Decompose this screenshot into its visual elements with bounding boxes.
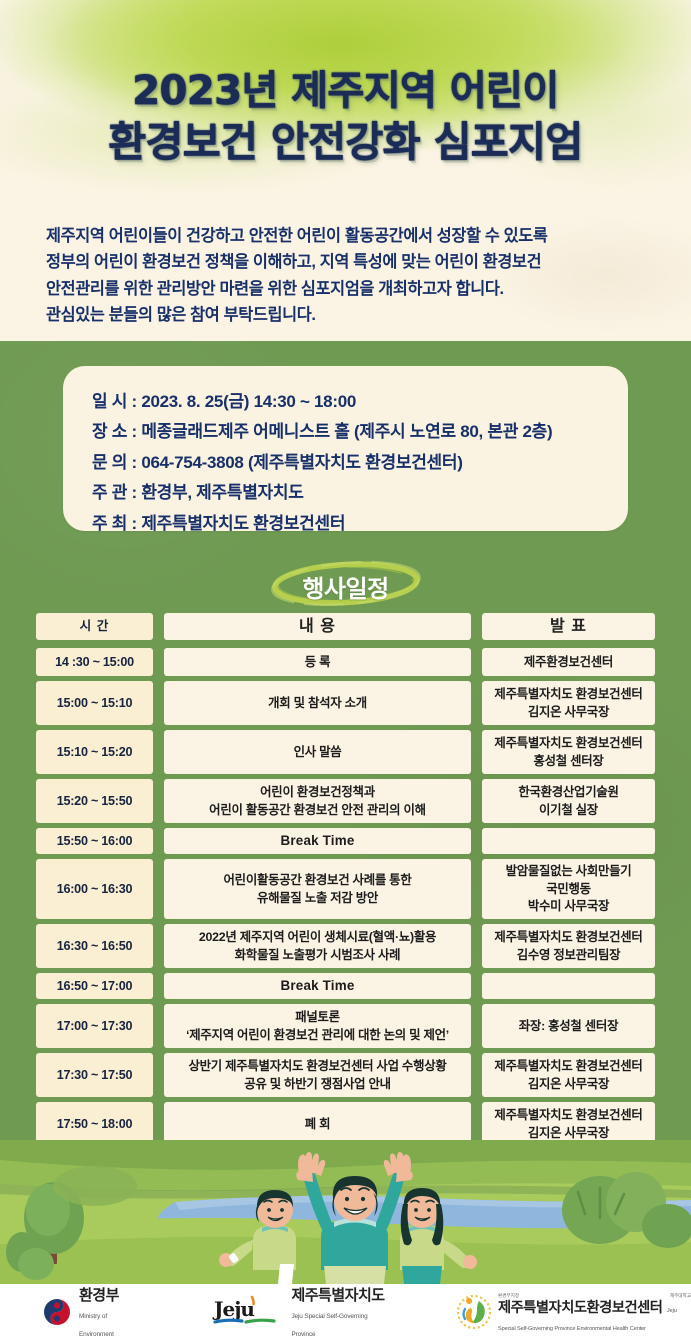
cell-content-line: 어린이 활동공간 환경보건 안전 관리의 이해 <box>209 802 426 819</box>
column-header-speaker: 발 표 <box>482 613 655 640</box>
leaf-person-icon <box>457 1295 491 1334</box>
event-info-row: 장 소 : 메종글래드제주 어메니스트 홀 (제주시 노연로 80, 본관 2층… <box>92 417 614 447</box>
cell-time: 14 :30 ~ 15:00 <box>36 648 153 676</box>
table-row: 16:50 ~ 17:00Break Time <box>36 973 655 999</box>
logo-name-en: Ministry of Environment <box>79 1313 114 1338</box>
event-info-row: 일 시 : 2023. 8. 25(금) 14:30 ~ 18:00 <box>92 387 614 417</box>
cell-content-line: 어린이 환경보건정책과 <box>209 784 426 801</box>
cell-time: 15:10 ~ 15:20 <box>36 730 153 774</box>
cell-speaker-line: 제주특별자치도 환경보건센터 <box>494 929 642 946</box>
logo-list: 환경부 Ministry of Environment Jeju 제주특별자치도… <box>0 1284 691 1344</box>
schedule-badge-label: 행사일정 <box>0 569 691 604</box>
cell-speaker-line: 제주특별자치도 환경보건센터 <box>494 1058 642 1075</box>
cell-speaker-line: 김지온 사무국장 <box>494 1076 642 1093</box>
cell-content: 상반기 제주특별자치도 환경보건센터 사업 수행상황공유 및 하반기 쟁점사업 … <box>164 1053 471 1097</box>
cell-speaker: 한국환경산업기술원이기철 실장 <box>482 779 655 823</box>
cell-content: 2022년 제주지역 어린이 생체시료(혈액·뇨)활용화학물질 노출평가 시범조… <box>164 924 471 968</box>
cell-content: 인사 말씀 <box>164 730 471 774</box>
intro-line: 정부의 어린이 환경보건 정책을 이해하고, 지역 특성에 맞는 어린이 환경보… <box>46 249 650 275</box>
event-info-value: 메종글래드제주 어메니스트 홀 (제주시 노연로 80, 본관 2층) <box>137 422 552 441</box>
cell-time: 15:00 ~ 15:10 <box>36 681 153 725</box>
logo-tiny-labels: 환경부지정 제주대학교 <box>498 1293 691 1299</box>
cell-content-line: 등 록 <box>305 654 331 671</box>
cell-speaker-line: 제주특별자치도 환경보건센터 <box>494 1107 642 1124</box>
cell-content: Break Time <box>164 828 471 854</box>
table-row: 15:50 ~ 16:00Break Time <box>36 828 655 854</box>
title-line-1: 2023년 제주지역 어린이 <box>0 66 691 117</box>
cell-content: Break Time <box>164 973 471 999</box>
park-illustration <box>0 1140 691 1284</box>
cell-speaker-line: 김수영 정보관리팀장 <box>494 947 642 964</box>
cell-speaker-line: 발암물질없는 사회만들기 <box>506 863 632 880</box>
cell-time: 15:50 ~ 16:00 <box>36 828 153 854</box>
taegeuk-icon <box>42 1297 72 1332</box>
cell-content: 패널토론‘제주지역 어린이 환경보건 관리에 대한 논의 및 제언’ <box>164 1004 471 1048</box>
table-row: 14 :30 ~ 15:00등 록제주환경보건센터 <box>36 648 655 676</box>
cell-speaker-line: 좌장: 홍성철 센터장 <box>519 1018 618 1035</box>
cell-time: 15:20 ~ 15:50 <box>36 779 153 823</box>
cell-time: 16:50 ~ 17:00 <box>36 973 153 999</box>
intro-line: 제주지역 어린이들이 건강하고 안전한 어린이 활동공간에서 성장할 수 있도록 <box>46 223 650 249</box>
cell-speaker: 제주특별자치도 환경보건센터김수영 정보관리팀장 <box>482 924 655 968</box>
logo-jeju-province: Jeju 제주특별자치도 Jeju Special Self-Governing… <box>212 1287 389 1341</box>
table-row: 17:30 ~ 17:50상반기 제주특별자치도 환경보건센터 사업 수행상황공… <box>36 1053 655 1097</box>
logo-text-group: 환경부지정 제주대학교 제주특별자치도환경보건센터 Jeju Special S… <box>498 1293 691 1335</box>
cell-content-line: ‘제주지역 어린이 환경보건 관리에 대한 논의 및 제언’ <box>186 1027 449 1044</box>
event-info-value: 064-754-3808 (제주특별자치도 환경보건센터) <box>137 453 463 472</box>
table-row: 15:00 ~ 15:10개회 및 참석자 소개제주특별자치도 환경보건센터김지… <box>36 681 655 725</box>
cell-speaker-line: 한국환경산업기술원 <box>518 784 618 801</box>
logo-text-group: 환경부 Ministry of Environment <box>79 1287 134 1341</box>
cell-content: 어린이활동공간 환경보건 사례를 통한유해물질 노출 저감 방안 <box>164 859 471 919</box>
cell-content-line: 개회 및 참석자 소개 <box>268 695 367 712</box>
cell-content: 등 록 <box>164 648 471 676</box>
jeju-wordmark-icon: Jeju <box>212 1295 284 1334</box>
cell-content-line: 화학물질 노출평가 시범조사 사례 <box>199 947 436 964</box>
column-header-content: 내 용 <box>164 613 471 640</box>
cell-speaker-line: 국민행동 <box>506 881 632 898</box>
event-info-label: 주 관 : <box>92 478 137 508</box>
column-header-time: 시 간 <box>36 613 153 640</box>
footer-logo-bar: 환경부 Ministry of Environment Jeju 제주특별자치도… <box>0 1284 691 1344</box>
event-info-label: 일 시 : <box>92 387 137 417</box>
cell-speaker-line: 제주특별자치도 환경보건센터 <box>494 735 642 752</box>
cell-speaker: 제주특별자치도 환경보건센터김지온 사무국장 <box>482 681 655 725</box>
cell-content-line: 폐 회 <box>305 1116 331 1133</box>
cell-content-line: Break Time <box>281 833 355 850</box>
intro-line: 관심있는 분들의 많은 참여 부탁드립니다. <box>46 302 650 328</box>
green-body: 일 시 : 2023. 8. 25(금) 14:30 ~ 18:00장 소 : … <box>0 341 691 1144</box>
event-info-box: 일 시 : 2023. 8. 25(금) 14:30 ~ 18:00장 소 : … <box>63 366 628 531</box>
cell-content-line: 상반기 제주특별자치도 환경보건센터 사업 수행상황 <box>188 1058 446 1075</box>
table-body: 14 :30 ~ 15:00등 록제주환경보건센터15:00 ~ 15:10개회… <box>36 648 655 1144</box>
hero-header: 2023년 제주지역 어린이 환경보건 안전강화 심포지엄 제주지역 어린이들이… <box>0 0 691 341</box>
logo-name-ko: 제주특별자치도 <box>291 1287 384 1304</box>
cell-speaker: 제주환경보건센터 <box>482 648 655 676</box>
cell-content: 폐 회 <box>164 1102 471 1144</box>
logo-ministry-of-environment: 환경부 Ministry of Environment <box>42 1287 134 1341</box>
cell-content: 어린이 환경보건정책과어린이 활동공간 환경보건 안전 관리의 이해 <box>164 779 471 823</box>
cell-speaker-line: 김지온 사무국장 <box>494 1125 642 1142</box>
cell-time: 17:30 ~ 17:50 <box>36 1053 153 1097</box>
poster-root: 2023년 제주지역 어린이 환경보건 안전강화 심포지엄 제주지역 어린이들이… <box>0 0 691 1344</box>
cell-content-line: Break Time <box>281 978 355 995</box>
event-info-list: 일 시 : 2023. 8. 25(금) 14:30 ~ 18:00장 소 : … <box>92 387 614 539</box>
cell-speaker-line: 홍성철 센터장 <box>494 753 642 770</box>
intro-line: 안전관리를 위한 관리방안 마련을 위한 심포지엄을 개최하고자 합니다. <box>46 276 650 302</box>
cell-speaker-line: 제주환경보건센터 <box>524 654 613 671</box>
event-info-row: 주 관 : 환경부, 제주특별자치도 <box>92 478 614 508</box>
cell-speaker-line: 박수미 사무국장 <box>506 898 632 915</box>
cell-content-line: 유해물질 노출 저감 방안 <box>224 890 412 907</box>
cell-speaker: 좌장: 홍성철 센터장 <box>482 1004 655 1048</box>
event-info-value: 환경부, 제주특별자치도 <box>137 483 304 502</box>
cell-speaker-line: 이기철 실장 <box>518 802 618 819</box>
logo-tiny-right: 제주대학교 <box>670 1293 691 1299</box>
logo-tiny-left: 환경부지정 <box>498 1293 519 1299</box>
cell-speaker: 발암물질없는 사회만들기국민행동박수미 사무국장 <box>482 859 655 919</box>
event-info-row: 주 최 : 제주특별자치도 환경보건센터 <box>92 509 614 539</box>
cell-content-line: 어린이활동공간 환경보건 사례를 통한 <box>224 872 412 889</box>
page-title: 2023년 제주지역 어린이 환경보건 안전강화 심포지엄 <box>0 66 691 168</box>
cell-speaker <box>482 828 655 854</box>
svg-text:Jeju: Jeju <box>212 1297 254 1321</box>
table-row: 16:30 ~ 16:502022년 제주지역 어린이 생체시료(혈액·뇨)활용… <box>36 924 655 968</box>
cell-content-line: 인사 말씀 <box>294 744 342 761</box>
logo-name-ko: 환경부 <box>79 1287 119 1304</box>
schedule-table: 시 간 내 용 발 표 14 :30 ~ 15:00등 록제주환경보건센터15:… <box>36 613 655 1144</box>
cell-speaker-line: 제주특별자치도 환경보건센터 <box>494 686 642 703</box>
cell-speaker-line: 김지온 사무국장 <box>494 704 642 721</box>
cell-content-line: 공유 및 하반기 쟁점사업 안내 <box>188 1076 446 1093</box>
table-row: 17:00 ~ 17:30패널토론‘제주지역 어린이 환경보건 관리에 대한 논… <box>36 1004 655 1048</box>
table-row: 16:00 ~ 16:30어린이활동공간 환경보건 사례를 통한유해물질 노출 … <box>36 859 655 919</box>
event-info-label: 주 최 : <box>92 509 137 539</box>
cell-content-line: 패널토론 <box>186 1009 449 1026</box>
logo-name-en: Jeju Special Self-Governing Province <box>291 1313 367 1338</box>
event-info-value: 2023. 8. 25(금) 14:30 ~ 18:00 <box>137 392 356 411</box>
intro-paragraph: 제주지역 어린이들이 건강하고 안전한 어린이 활동공간에서 성장할 수 있도록… <box>46 223 650 328</box>
table-row: 15:10 ~ 15:20인사 말씀제주특별자치도 환경보건센터홍성철 센터장 <box>36 730 655 774</box>
logo-name-ko: 제주특별자치도환경보건센터 <box>498 1300 663 1316</box>
cell-time: 17:50 ~ 18:00 <box>36 1102 153 1144</box>
cell-time: 16:30 ~ 16:50 <box>36 924 153 968</box>
cell-content: 개회 및 참석자 소개 <box>164 681 471 725</box>
cell-speaker: 제주특별자치도 환경보건센터홍성철 센터장 <box>482 730 655 774</box>
event-info-label: 장 소 : <box>92 417 137 447</box>
cell-time: 17:00 ~ 17:30 <box>36 1004 153 1048</box>
title-line-2: 환경보건 안전강화 심포지엄 <box>0 117 691 168</box>
cell-speaker: 제주특별자치도 환경보건센터김지온 사무국장 <box>482 1102 655 1144</box>
cell-speaker <box>482 973 655 999</box>
table-row: 17:50 ~ 18:00폐 회제주특별자치도 환경보건센터김지온 사무국장 <box>36 1102 655 1144</box>
logo-text-group: 제주특별자치도 Jeju Special Self-Governing Prov… <box>291 1287 389 1341</box>
event-info-label: 문 의 : <box>92 448 137 478</box>
cell-time: 16:00 ~ 16:30 <box>36 859 153 919</box>
event-info-value: 제주특별자치도 환경보건센터 <box>137 514 345 533</box>
event-info-row: 문 의 : 064-754-3808 (제주특별자치도 환경보건센터) <box>92 448 614 478</box>
cell-content-line: 2022년 제주지역 어린이 생체시료(혈액·뇨)활용 <box>199 929 436 946</box>
schedule-badge: 행사일정 <box>0 560 691 608</box>
cell-speaker: 제주특별자치도 환경보건센터김지온 사무국장 <box>482 1053 655 1097</box>
table-row: 15:20 ~ 15:50어린이 환경보건정책과어린이 활동공간 환경보건 안전… <box>36 779 655 823</box>
table-header-row: 시 간 내 용 발 표 <box>36 613 655 640</box>
logo-jeju-environmental-health-center: 환경부지정 제주대학교 제주특별자치도환경보건센터 Jeju Special S… <box>457 1293 691 1335</box>
